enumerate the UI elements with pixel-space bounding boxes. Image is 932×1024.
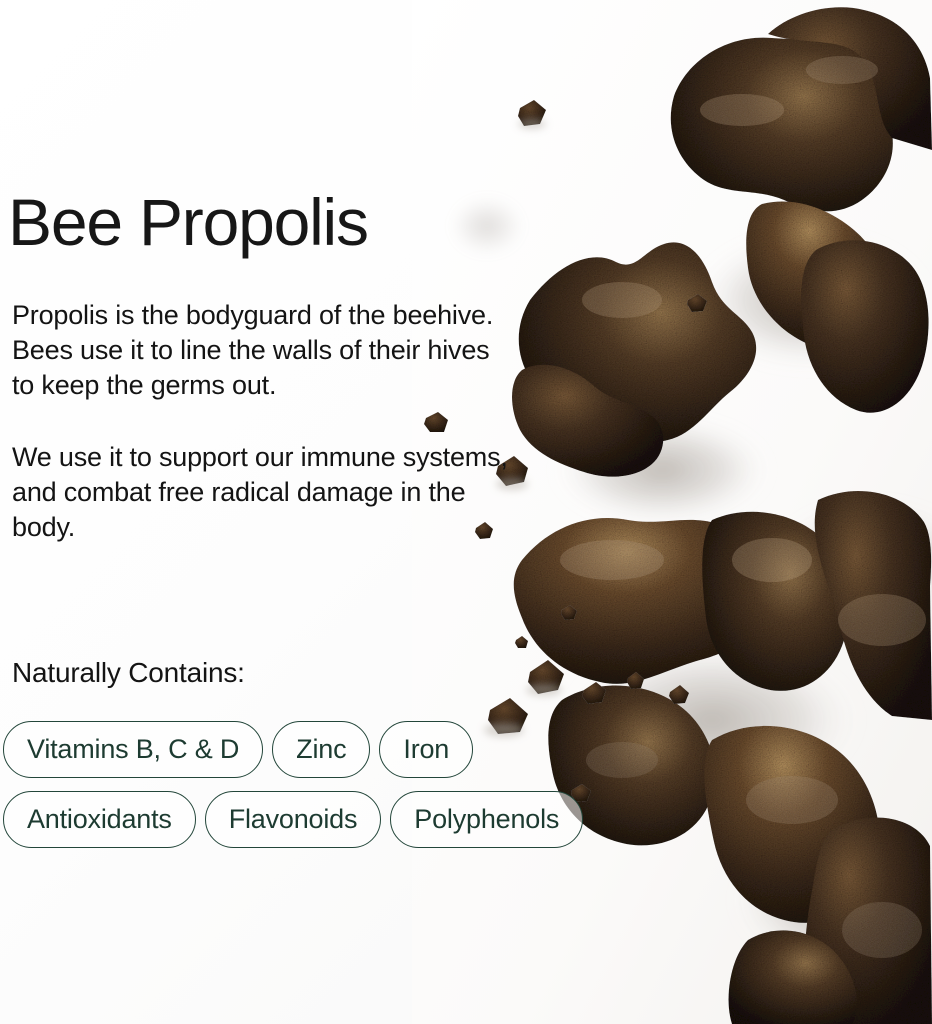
page-title: Bee Propolis (8, 189, 368, 255)
ingredient-pill-zinc[interactable]: Zinc (272, 721, 370, 778)
ingredient-pill-row: Antioxidants Flavonoids Polyphenols (3, 791, 703, 848)
ingredient-pill-row: Vitamins B, C & D Zinc Iron (3, 721, 703, 778)
description-paragraph-1: Propolis is the bodyguard of the beehive… (12, 298, 517, 403)
ingredient-pill-iron[interactable]: Iron (379, 721, 473, 778)
product-info-panel: Bee Propolis Propolis is the bodyguard o… (0, 0, 932, 1024)
ingredient-pill-list: Vitamins B, C & D Zinc Iron Antioxidants… (3, 721, 703, 861)
ingredient-pill-vitamins[interactable]: Vitamins B, C & D (3, 721, 263, 778)
ingredient-pill-antioxidants[interactable]: Antioxidants (3, 791, 196, 848)
naturally-contains-label: Naturally Contains: (12, 657, 245, 689)
text-column: Bee Propolis Propolis is the bodyguard o… (0, 0, 540, 1024)
ingredient-pill-polyphenols[interactable]: Polyphenols (390, 791, 583, 848)
description-paragraph-2: We use it to support our immune systems,… (12, 440, 517, 545)
ingredient-pill-flavonoids[interactable]: Flavonoids (205, 791, 382, 848)
